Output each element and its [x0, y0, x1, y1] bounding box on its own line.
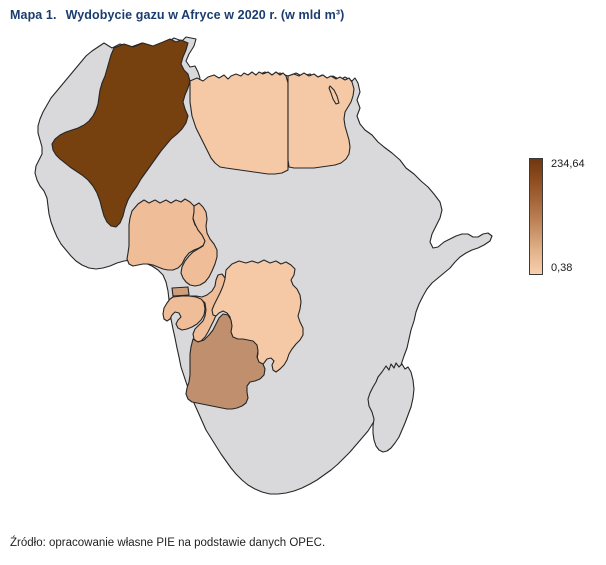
figure-label: Mapa 1. — [10, 8, 57, 22]
map-svg — [0, 34, 510, 529]
legend-min-label: 0,38 — [551, 262, 572, 274]
source-note: Źródło: opracowanie własne PIE na podsta… — [10, 537, 325, 549]
region-equatorial-guinea[interactable] — [172, 287, 189, 296]
region-egypt[interactable] — [288, 73, 354, 168]
legend-gradient-bar — [529, 158, 543, 275]
page-title: Mapa 1.Wydobycie gazu w Afryce w 2020 r.… — [10, 8, 344, 22]
figure-title-text: Wydobycie gazu w Afryce w 2020 r. (w mld… — [66, 8, 345, 22]
africa-choropleth-map — [0, 34, 510, 529]
legend-colorbar: 234,64 0,38 — [529, 158, 606, 278]
figure-map-1: Mapa 1.Wydobycie gazu w Afryce w 2020 r.… — [0, 0, 606, 565]
legend-max-label: 234,64 — [551, 158, 585, 170]
